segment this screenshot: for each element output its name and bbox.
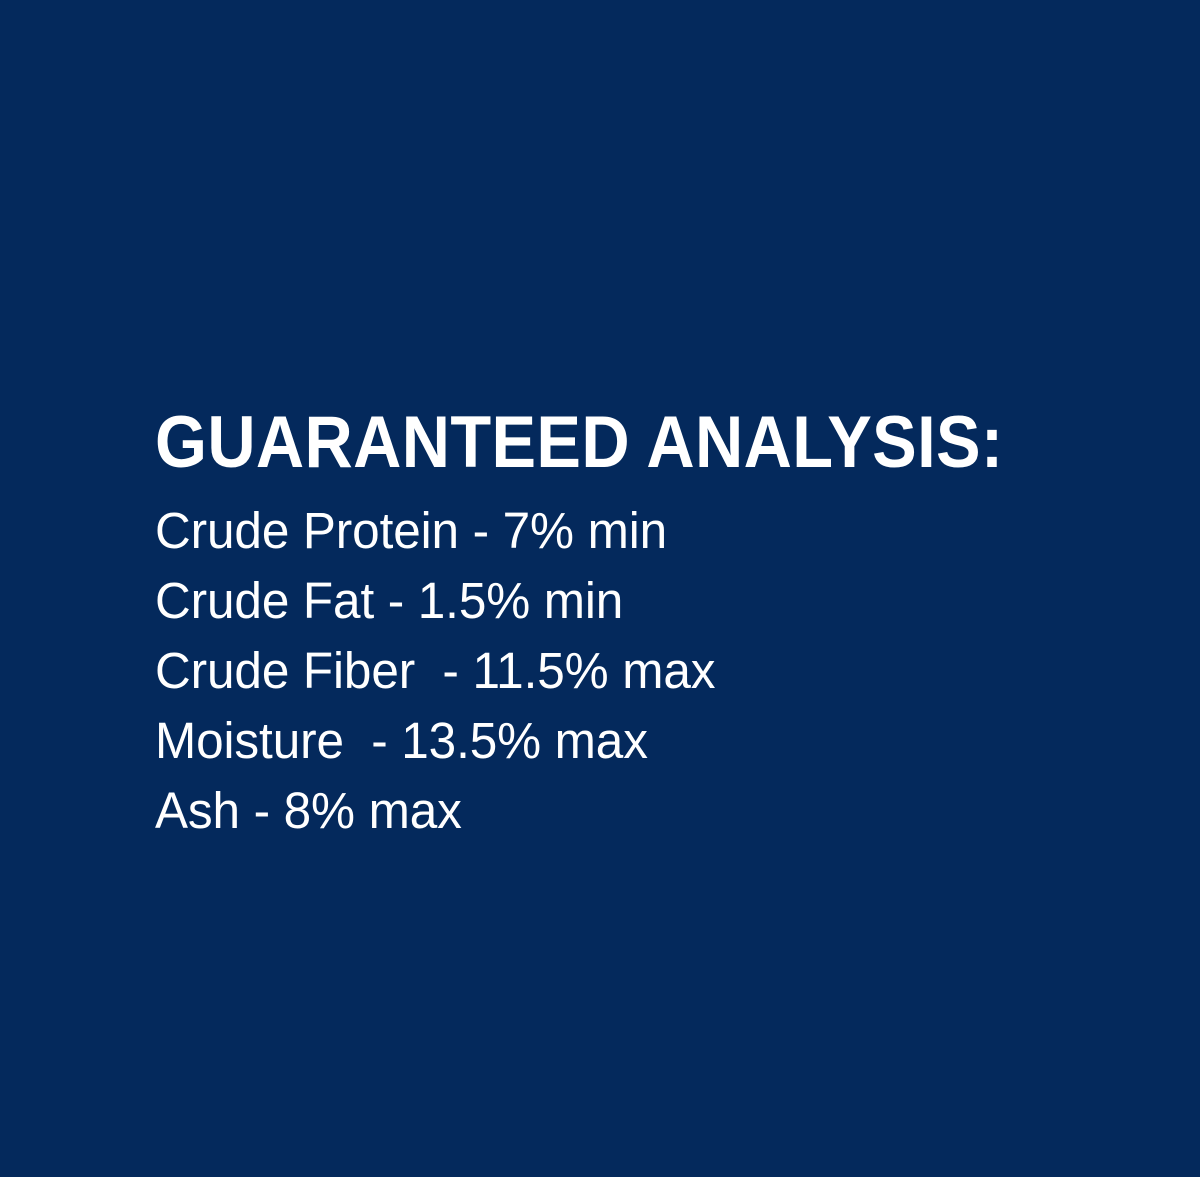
- list-item: Ash - 8% max: [155, 776, 1125, 846]
- nutrient-list: Crude Protein - 7% min Crude Fat - 1.5% …: [155, 496, 1155, 846]
- guaranteed-analysis-block: GUARANTEED ANALYSIS: Crude Protein - 7% …: [155, 404, 1155, 846]
- list-item: Crude Protein - 7% min: [155, 496, 1125, 566]
- page-title: GUARANTEED ANALYSIS:: [155, 404, 1070, 482]
- list-item: Crude Fat - 1.5% min: [155, 566, 1125, 636]
- guaranteed-analysis-panel: GUARANTEED ANALYSIS: Crude Protein - 7% …: [0, 0, 1200, 1177]
- list-item: Moisture - 13.5% max: [155, 706, 1125, 776]
- list-item: Crude Fiber - 11.5% max: [155, 636, 1125, 706]
